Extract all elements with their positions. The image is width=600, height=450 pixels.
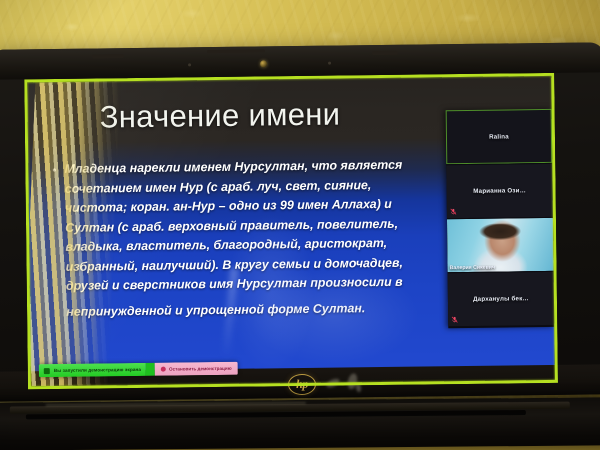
participant-name: Дарханулы бек… (473, 295, 529, 303)
bezel-notch (372, 51, 398, 55)
bullet-icon: • (52, 160, 58, 322)
stop-share-button[interactable]: Остановить демонстрацию (155, 362, 238, 376)
stop-share-icon (161, 367, 166, 372)
bezel-smudge (325, 377, 341, 389)
toolbar-divider (146, 363, 155, 376)
participant-name: Ralina (489, 133, 509, 140)
microphone-muted-icon (450, 208, 457, 215)
bezel-notch (207, 49, 265, 53)
webcam-icon (260, 60, 267, 67)
desk-surface (0, 445, 600, 450)
participant-tile[interactable]: Марианна Ози… (446, 163, 553, 218)
microphone-hole-icon (328, 62, 331, 65)
bezel-smudge (355, 383, 361, 393)
powerpoint-slide: Значение имени • Младенца нарекли именем… (27, 76, 555, 386)
stop-share-label: Остановить демонстрацию (169, 366, 232, 372)
slide-body-last-line: непринужденной и упрощенной форме Султан… (66, 298, 432, 322)
photo-scene: Значение имени • Младенца нарекли именем… (0, 0, 600, 450)
microphone-hole-icon (188, 63, 191, 66)
zoom-participant-panel[interactable]: Ralina Марианна Ози… (446, 109, 555, 328)
hp-logo: hp (288, 374, 316, 395)
participant-tile[interactable]: Дарханулы бек… (448, 271, 555, 326)
participant-tile[interactable]: Валерия Сикевич (447, 217, 554, 272)
participant-name: Валерия Сикевич (450, 265, 495, 272)
slide-title: Значение имени (99, 97, 340, 136)
slide-body: • Младенца нарекли именем Нурсултан, что… (52, 155, 432, 322)
laptop-screen: Значение имени • Младенца нарекли именем… (24, 73, 558, 389)
participant-tile[interactable]: Ralina (446, 109, 553, 164)
bezel-notch (92, 54, 124, 58)
laptop-base (0, 397, 600, 450)
laptop-lid: Значение имени • Младенца нарекли именем… (0, 42, 600, 401)
microphone-muted-icon (451, 316, 458, 323)
slide-body-paragraph: Младенца нарекли именем Нурсултан, что я… (64, 158, 403, 293)
share-status-label: Вы запустили демонстрацию экрана (54, 367, 141, 373)
share-status-chip: Вы запустили демонстрацию экрана (39, 363, 146, 377)
participant-name: Марианна Ози… (473, 187, 526, 195)
slide-body-text-wrapper: Младенца нарекли именем Нурсултан, что я… (64, 155, 432, 321)
video-subject (472, 224, 527, 252)
zoom-share-toolbar[interactable]: Вы запустили демонстрацию экрана Останов… (39, 362, 238, 377)
screen-share-icon (44, 368, 50, 374)
